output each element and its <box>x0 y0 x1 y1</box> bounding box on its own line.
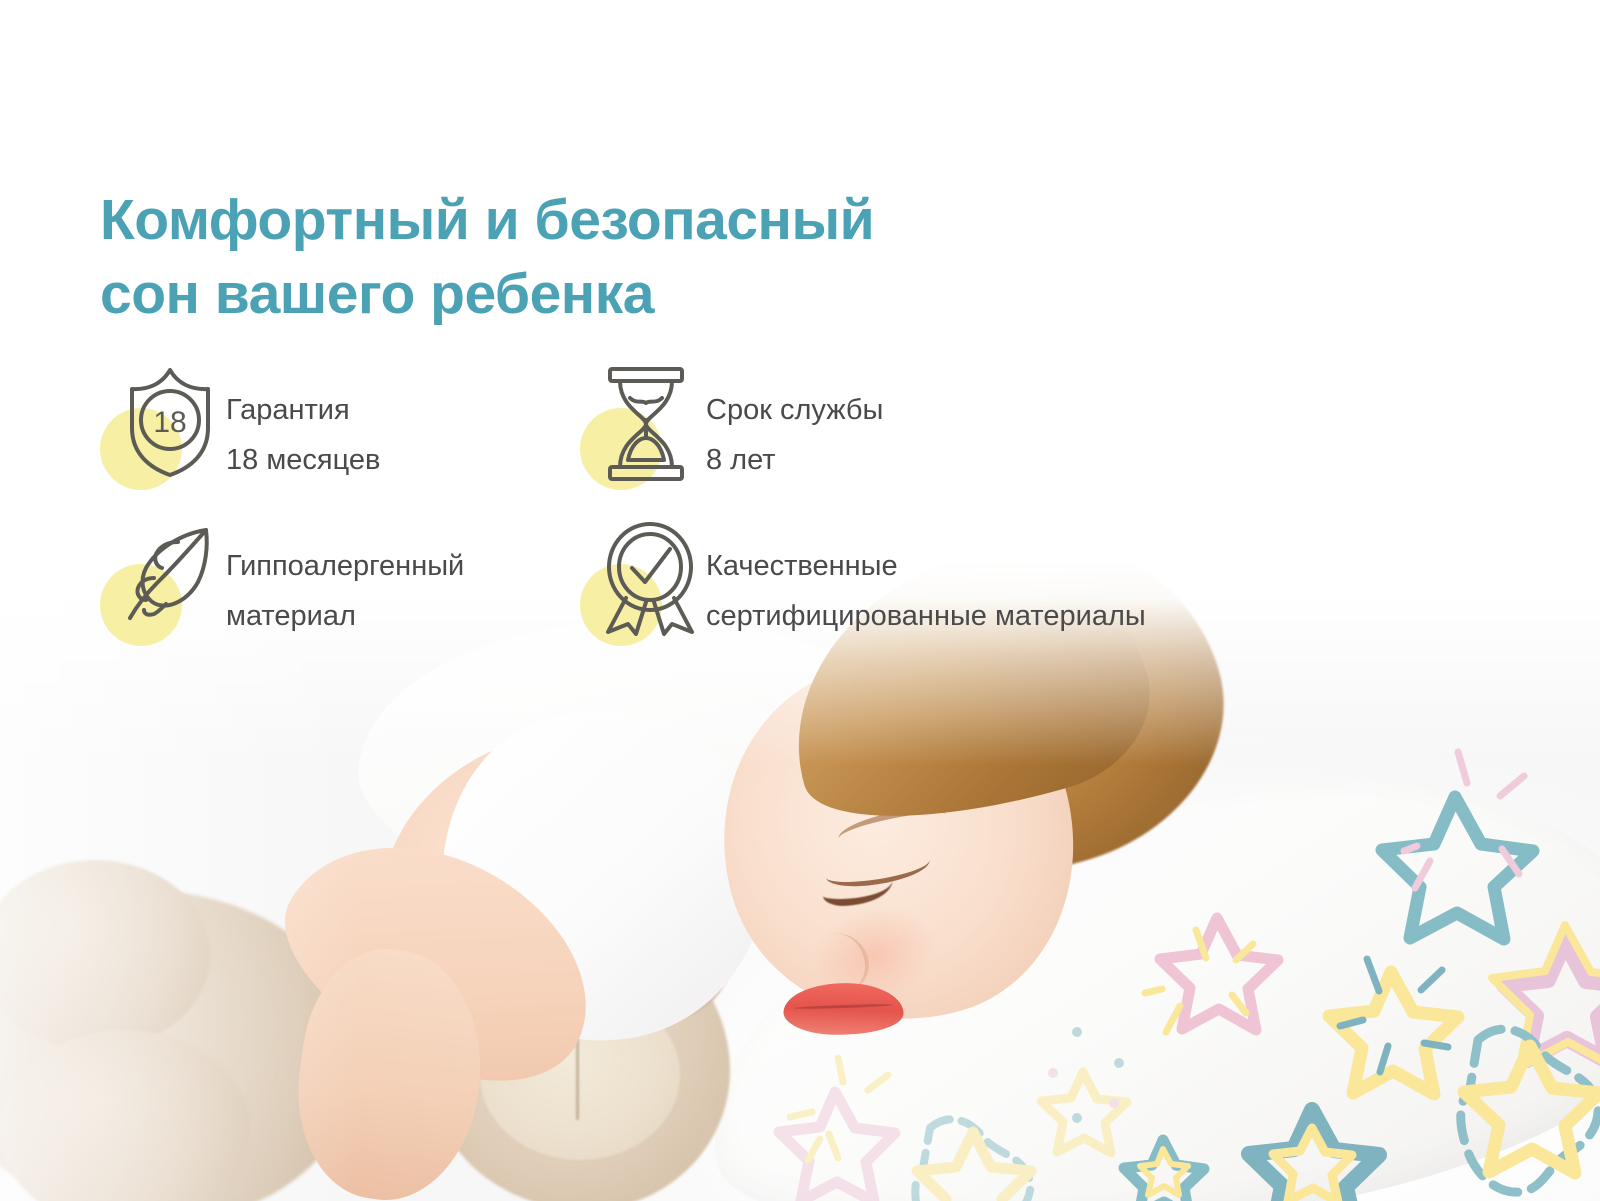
feature-certified-materials-line-2: сертифицированные материалы <box>706 592 1146 642</box>
child-eyelashes <box>822 869 893 906</box>
feature-service-life-line-2: 8 лет <box>706 436 883 486</box>
feature-service-life-line-1: Срок службы <box>706 386 883 436</box>
sleeping-child-photo: ♥ <box>0 560 1600 1201</box>
feather-glyph <box>118 520 222 632</box>
feature-service-life: Срок службы 8 лет <box>580 362 1360 494</box>
feature-warranty: 18 Гарантия 18 месяцев <box>100 362 580 494</box>
hourglass-icon <box>580 362 706 494</box>
feature-service-life-text: Срок службы 8 лет <box>706 362 883 486</box>
feature-warranty-line-1: Гарантия <box>226 386 380 436</box>
feature-hypoallergenic-line-1: Гиппоалергенный <box>226 542 464 592</box>
headline-line-1: Комфортный и безопасный <box>100 188 874 252</box>
feature-certified-materials-text: Качественные сертифицированные материалы <box>706 518 1146 642</box>
page-title: Комфортный и безопасный сон вашего ребен… <box>100 183 1200 331</box>
feature-list: 18 Гарантия 18 месяцев <box>100 362 1360 650</box>
feature-warranty-line-2: 18 месяцев <box>226 436 380 486</box>
feather-icon <box>100 518 226 650</box>
headline-line-2: сон вашего ребенка <box>100 257 1200 331</box>
award-medal-glyph <box>598 520 702 636</box>
promo-banner: ♥ <box>0 0 1600 1201</box>
feature-certified-materials-line-1: Качественные <box>706 542 1146 592</box>
feature-certified-materials: Качественные сертифицированные материалы <box>580 518 1360 650</box>
feature-warranty-text: Гарантия 18 месяцев <box>226 362 380 486</box>
check-icon <box>632 549 670 582</box>
feature-row-2: Гиппоалергенный материал <box>100 518 1360 650</box>
feature-hypoallergenic-text: Гиппоалергенный материал <box>226 518 464 642</box>
shield-18-icon: 18 <box>100 362 226 494</box>
feature-row-1: 18 Гарантия 18 месяцев <box>100 362 1360 494</box>
shield-badge-number: 18 <box>153 406 186 439</box>
feature-hypoallergenic-line-2: материал <box>226 592 464 642</box>
feature-hypoallergenic: Гиппоалергенный материал <box>100 518 580 650</box>
shield-glyph: 18 <box>118 364 222 480</box>
hourglass-glyph <box>598 364 694 484</box>
award-medal-icon <box>580 518 706 650</box>
